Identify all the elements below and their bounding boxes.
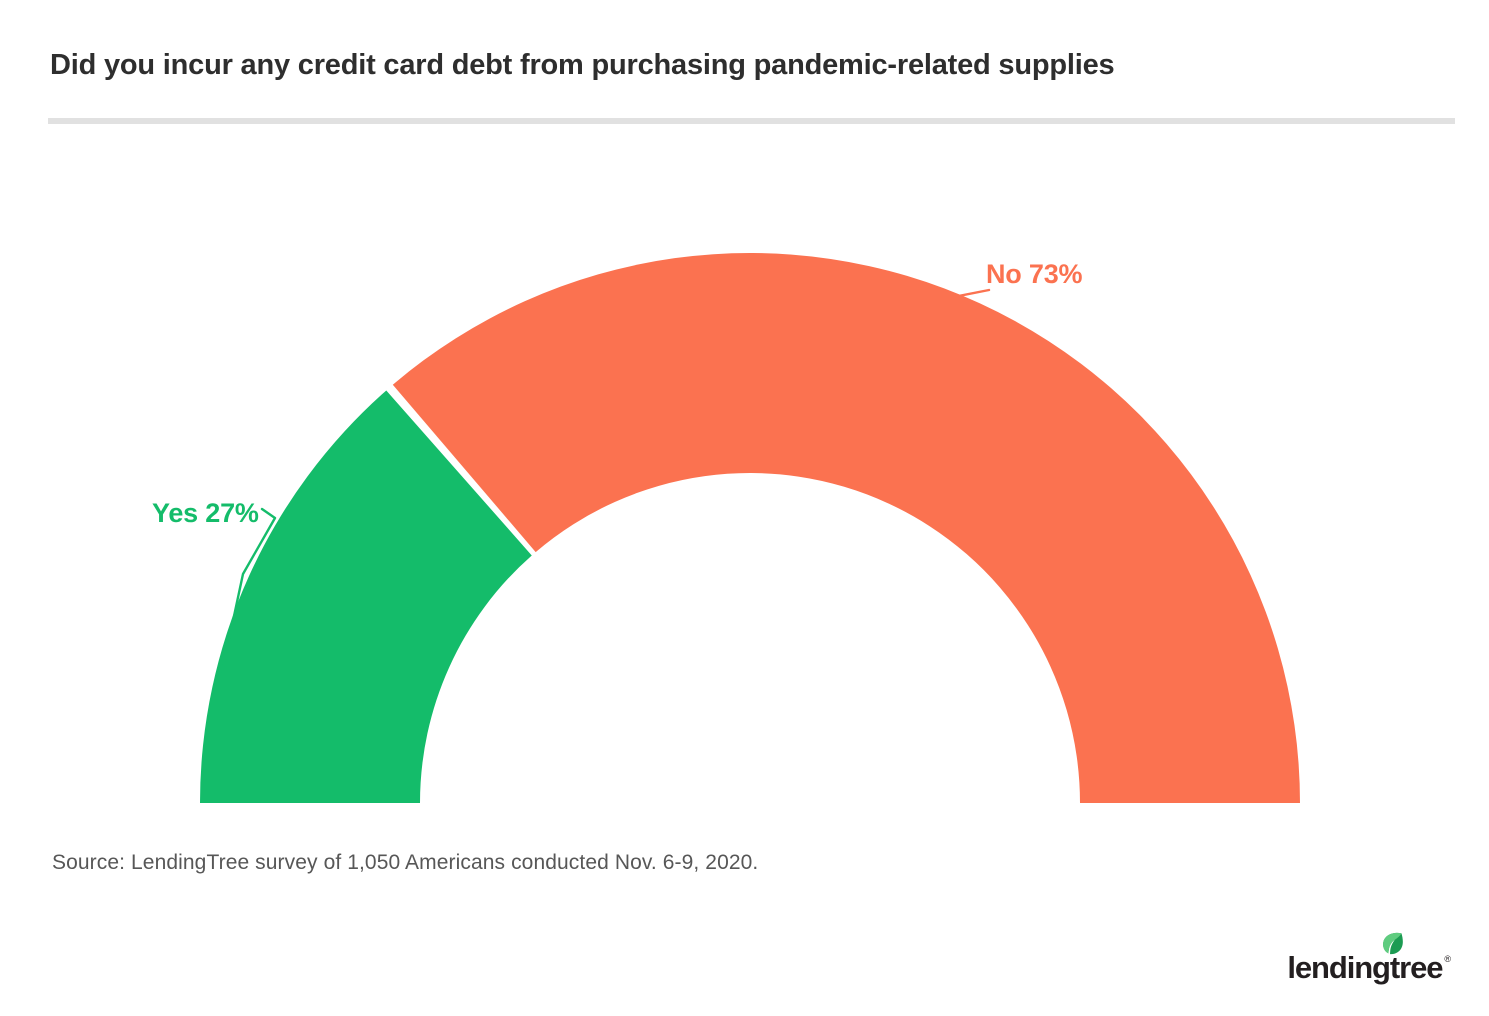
pie-label-no: No 73% [986,259,1083,289]
leader-line-no [955,290,990,297]
lendingtree-logo: lendingtree ® [1287,952,1451,983]
page-title: Did you incur any credit card debt from … [50,48,1450,83]
source-note: Source: LendingTree survey of 1,050 Amer… [52,851,758,875]
leader-line-yes [222,509,275,671]
pie-slice-no[interactable] [393,253,1300,803]
pie-slice-yes[interactable] [200,390,532,803]
pie-label-yes: Yes 27% [152,498,259,528]
title-divider-rule [48,118,1455,124]
leaf-icon [1379,931,1405,962]
brand-wordmark: lendingtree [1287,952,1442,983]
registered-trademark: ® [1444,955,1451,964]
